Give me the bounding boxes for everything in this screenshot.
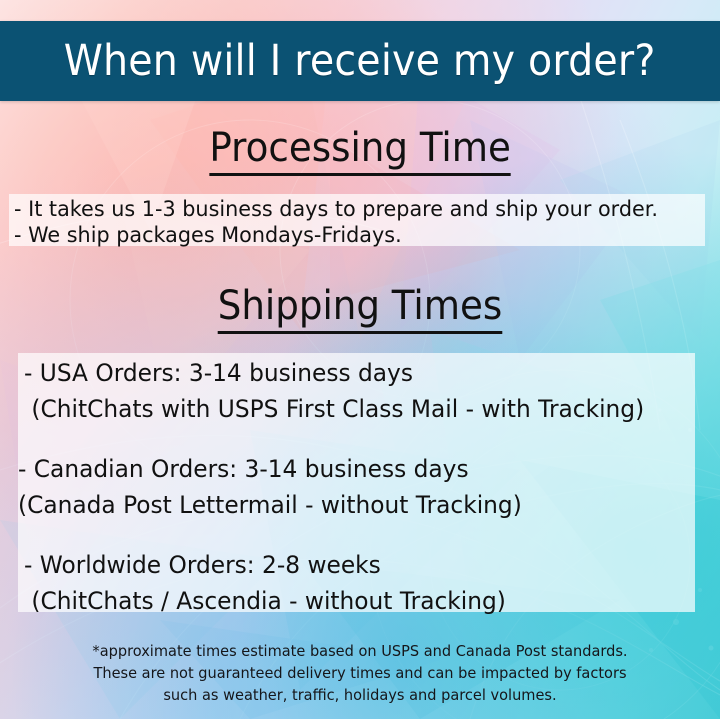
page-title: When will I receive my order?: [64, 40, 656, 83]
shipping-group-usa-text: - USA Orders: 3-14 business days (ChitCh…: [24, 355, 644, 427]
shipping-group-canada-text: - Canadian Orders: 3-14 business days (C…: [18, 451, 522, 523]
section-heading-processing-time-label: Processing Time: [209, 128, 511, 176]
processing-time-text: - It takes us 1-3 business days to prepa…: [14, 197, 658, 249]
disclaimer-note: *approximate times estimate based on USP…: [11, 640, 709, 706]
section-heading-shipping-times-label: Shipping Times: [218, 286, 503, 334]
section-heading-processing-time: Processing Time: [0, 128, 720, 176]
shipping-info-poster: When will I receive my order? Processing…: [0, 0, 720, 719]
section-heading-shipping-times: Shipping Times: [0, 286, 720, 334]
shipping-group-worldwide-text: - Worldwide Orders: 2-8 weeks (ChitChats…: [24, 547, 506, 619]
header-banner: When will I receive my order?: [0, 21, 720, 101]
